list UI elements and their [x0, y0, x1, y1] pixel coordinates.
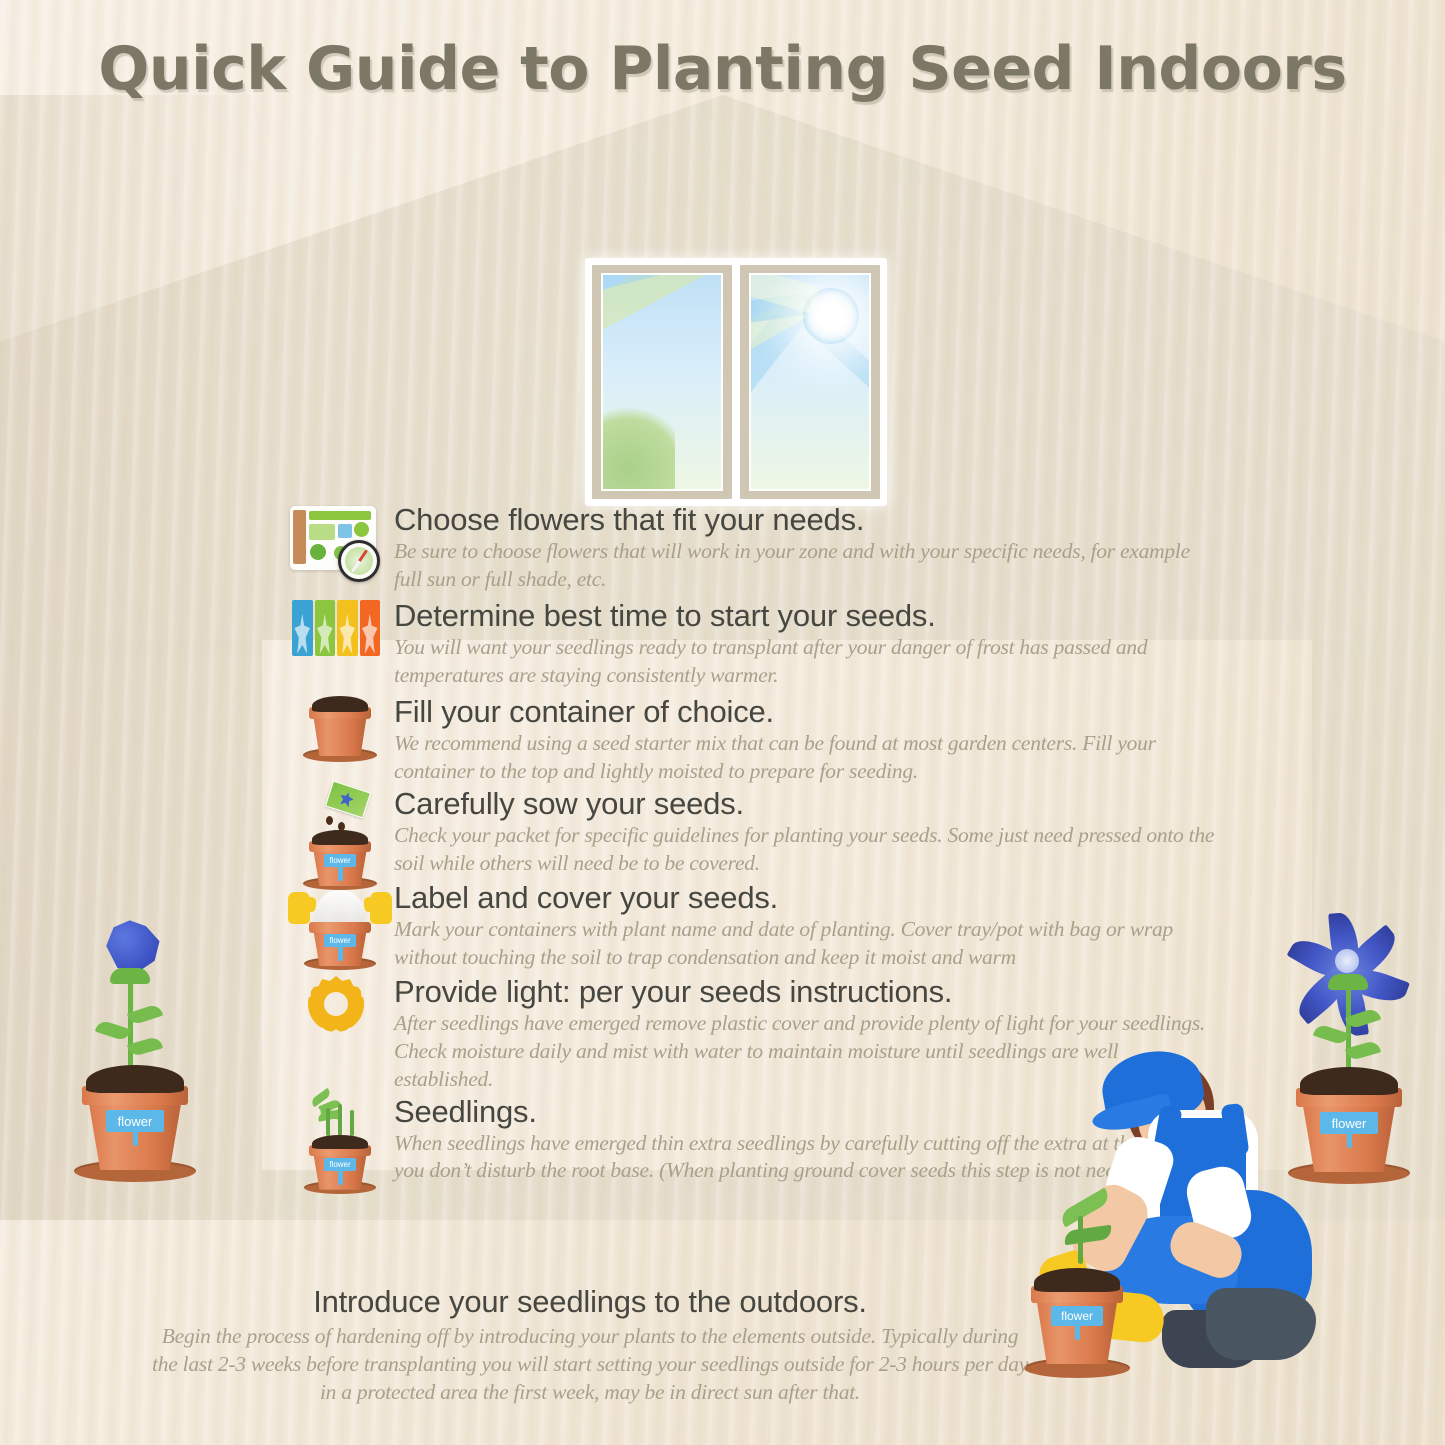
- pot-soil: [312, 1135, 368, 1149]
- page-title: Quick Guide to Planting Seed Indoors: [0, 34, 1445, 104]
- season-autumn: [360, 600, 381, 656]
- infographic-poster: Quick Guide to Planting Seed Indoors: [0, 0, 1445, 1445]
- plant-stem: [128, 978, 133, 1074]
- step-item: Fill your container of choice. We recomm…: [286, 694, 1216, 786]
- packet-flower-art: [338, 790, 356, 808]
- step-text: Carefully sow your seeds. Check your pac…: [394, 786, 1216, 878]
- window-glass-left: [601, 273, 723, 491]
- seedlings-pot-icon: flower: [302, 1132, 378, 1194]
- sun-icon: [803, 288, 859, 344]
- icon-slot: flower: [286, 1094, 394, 1095]
- sunlit-window-illustration: [585, 258, 887, 506]
- season-spring: [315, 600, 336, 656]
- step-heading: Provide light: per your seeds instructio…: [394, 976, 1216, 1009]
- step-text: Fill your container of choice. We recomm…: [394, 694, 1216, 786]
- sun-ring-icon: [308, 976, 364, 1032]
- compass-icon: [338, 540, 380, 582]
- seed-packet-icon: [325, 780, 371, 818]
- pot-body: [313, 714, 367, 756]
- step-heading: Determine best time to start your seeds.: [394, 600, 1216, 633]
- outro-heading: Introduce your seedlings to the outdoors…: [150, 1284, 1030, 1320]
- blue-rosebud-potted-plant: flower: [70, 912, 200, 1184]
- pot-rim: [309, 922, 371, 933]
- season-summer: [337, 600, 358, 656]
- pot-label-tag: flower: [1051, 1306, 1103, 1326]
- pot-soil: [312, 696, 368, 712]
- step-body: Check your packet for specific guideline…: [394, 822, 1216, 878]
- step-text: Choose flowers that fit your needs. Be s…: [394, 502, 1216, 594]
- step-item: flower Carefully sow your seeds. Check y…: [286, 786, 1216, 880]
- outro-body: Begin the process of hardening off by in…: [150, 1323, 1030, 1407]
- gardener-seedling-stem: [1078, 1216, 1083, 1264]
- pot-soil: [1034, 1268, 1120, 1292]
- filled-pot-icon: [302, 694, 378, 762]
- icon-slot: [286, 598, 394, 599]
- icon-slot: [286, 694, 394, 695]
- step-item: Determine best time to start your seeds.…: [286, 598, 1216, 694]
- step-text: Determine best time to start your seeds.…: [394, 598, 1216, 690]
- four-seasons-icon: [292, 600, 380, 656]
- step-heading: Fill your container of choice.: [394, 696, 1216, 729]
- window-greenery: [601, 401, 675, 491]
- step-heading: Label and cover your seeds.: [394, 882, 1216, 915]
- icon-slot: [286, 502, 394, 503]
- pot-soil: [312, 830, 368, 845]
- plant-stem: [1346, 984, 1351, 1076]
- step-body: We recommend using a seed starter mix th…: [394, 730, 1216, 786]
- falling-seed: [326, 816, 333, 825]
- covered-pot-icon: flower: [302, 910, 378, 970]
- window-glass-right: [749, 273, 871, 491]
- lily-center: [1335, 949, 1359, 973]
- step-item: Choose flowers that fit your needs. Be s…: [286, 502, 1216, 598]
- window-pane-right: [740, 265, 880, 499]
- pot-label-tag: flower: [106, 1110, 164, 1132]
- step-heading: Choose flowers that fit your needs.: [394, 504, 1216, 537]
- pot-soil: [86, 1065, 184, 1093]
- window-pane-left: [592, 265, 732, 499]
- outro-block: Introduce your seedlings to the outdoors…: [150, 1284, 1030, 1407]
- step-body: Be sure to choose flowers that will work…: [394, 538, 1216, 594]
- gardener-pot: flower: [1022, 1266, 1132, 1378]
- step-heading: Carefully sow your seeds.: [394, 788, 1216, 821]
- gardener-boot: [1206, 1288, 1316, 1360]
- pot-label-tag: flower: [1320, 1112, 1378, 1134]
- kneeling-gardener-illustration: flower: [1020, 1040, 1320, 1410]
- pot-label-tag: flower: [324, 854, 356, 867]
- terracotta-pot: flower: [72, 1064, 198, 1182]
- step-body: Mark your containers with plant name and…: [394, 916, 1216, 972]
- icon-slot: [286, 974, 394, 975]
- step-item: flower Label and cover your seeds. Mark …: [286, 880, 1216, 974]
- step-body: You will want your seedlings ready to tr…: [394, 634, 1216, 690]
- pot-label-tag: flower: [324, 934, 356, 947]
- icon-slot: flower: [286, 786, 394, 787]
- pot-label-tag: flower: [324, 1158, 356, 1171]
- plant-leaf: [95, 1019, 131, 1042]
- season-winter: [292, 600, 313, 656]
- step-text: Label and cover your seeds. Mark your co…: [394, 880, 1216, 972]
